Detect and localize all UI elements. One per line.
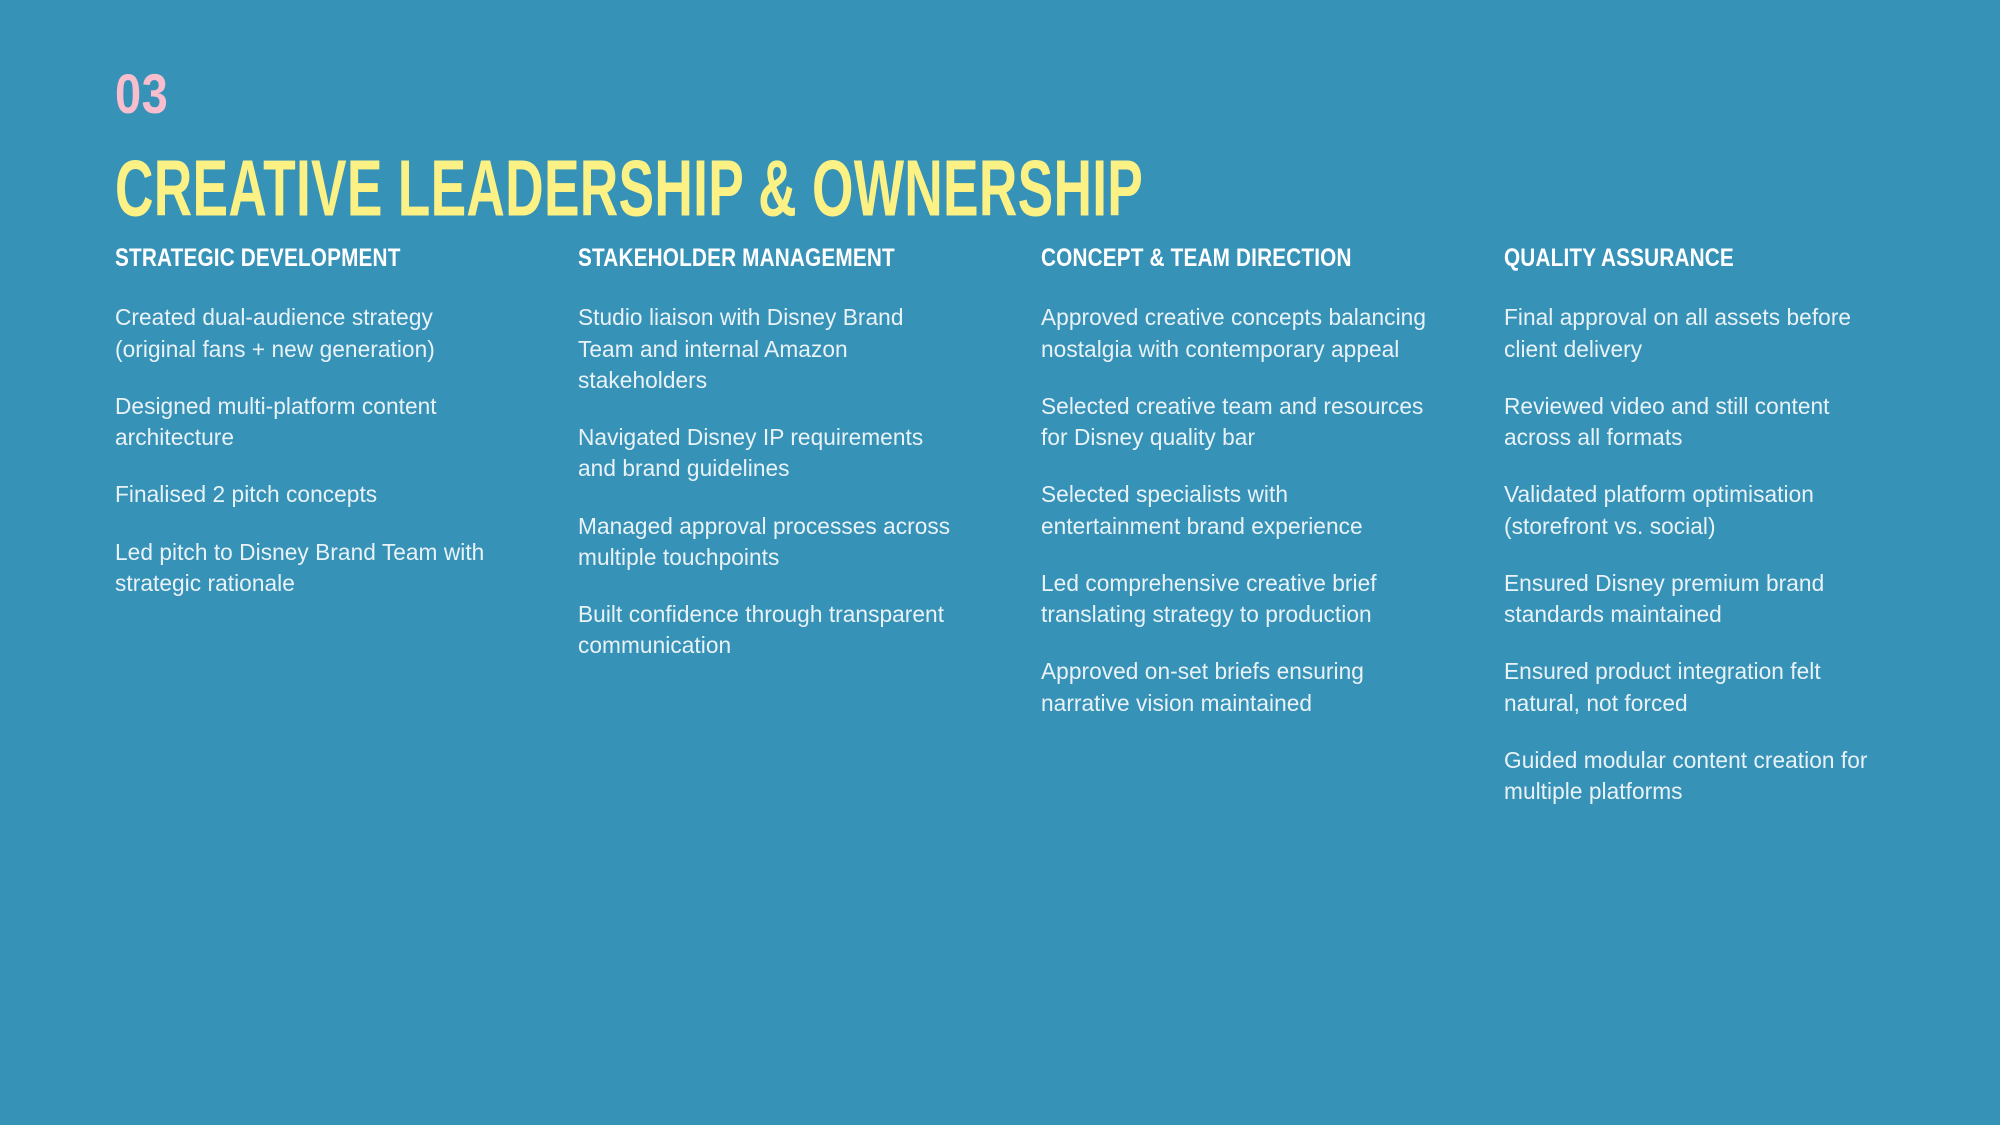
page-title: CREATIVE LEADERSHIP & OWNERSHIP (115, 150, 1663, 229)
presentation-slide: 03 CREATIVE LEADERSHIP & OWNERSHIP STRAT… (0, 0, 2000, 1125)
list-item: Studio liaison with Disney Brand Team an… (578, 302, 964, 396)
list-item: Approved creative concepts balancing nos… (1041, 302, 1427, 365)
list-item: Led comprehensive creative brief transla… (1041, 568, 1427, 631)
column-item-list: Approved creative concepts balancing nos… (1041, 302, 1441, 719)
column-stakeholder-management: STAKEHOLDER MANAGEMENT Studio liaison wi… (578, 245, 978, 662)
list-item: Reviewed video and still content across … (1504, 391, 1890, 454)
column-header: QUALITY ASSURANCE (1504, 245, 1836, 271)
column-item-list: Created dual-audience strategy (original… (115, 302, 515, 599)
list-item: Guided modular content creation for mult… (1504, 745, 1890, 808)
column-header: STAKEHOLDER MANAGEMENT (578, 245, 910, 271)
column-header: CONCEPT & TEAM DIRECTION (1041, 245, 1373, 271)
list-item: Approved on-set briefs ensuring narrativ… (1041, 656, 1427, 719)
list-item: Selected creative team and resources for… (1041, 391, 1427, 454)
list-item: Ensured product integration felt natural… (1504, 656, 1890, 719)
list-item: Navigated Disney IP requirements and bra… (578, 422, 964, 485)
content-columns: STRATEGIC DEVELOPMENT Created dual-audie… (115, 245, 1945, 807)
column-header: STRATEGIC DEVELOPMENT (115, 245, 447, 271)
column-item-list: Studio liaison with Disney Brand Team an… (578, 302, 978, 661)
list-item: Created dual-audience strategy (original… (115, 302, 501, 365)
column-quality-assurance: QUALITY ASSURANCE Final approval on all … (1504, 245, 1904, 807)
list-item: Led pitch to Disney Brand Team with stra… (115, 537, 501, 600)
list-item: Designed multi-platform content architec… (115, 391, 501, 454)
list-item: Final approval on all assets before clie… (1504, 302, 1890, 365)
list-item: Built confidence through transparent com… (578, 599, 964, 662)
list-item: Managed approval processes across multip… (578, 511, 964, 574)
list-item: Finalised 2 pitch concepts (115, 479, 501, 510)
list-item: Ensured Disney premium brand standards m… (1504, 568, 1890, 631)
column-concept-team-direction: CONCEPT & TEAM DIRECTION Approved creati… (1041, 245, 1441, 719)
column-item-list: Final approval on all assets before clie… (1504, 302, 1904, 807)
list-item: Selected specialists with entertainment … (1041, 479, 1427, 542)
list-item: Validated platform optimisation (storefr… (1504, 479, 1890, 542)
slide-header: 03 CREATIVE LEADERSHIP & OWNERSHIP (115, 66, 1915, 212)
section-number: 03 (115, 66, 1627, 122)
column-strategic-development: STRATEGIC DEVELOPMENT Created dual-audie… (115, 245, 515, 599)
